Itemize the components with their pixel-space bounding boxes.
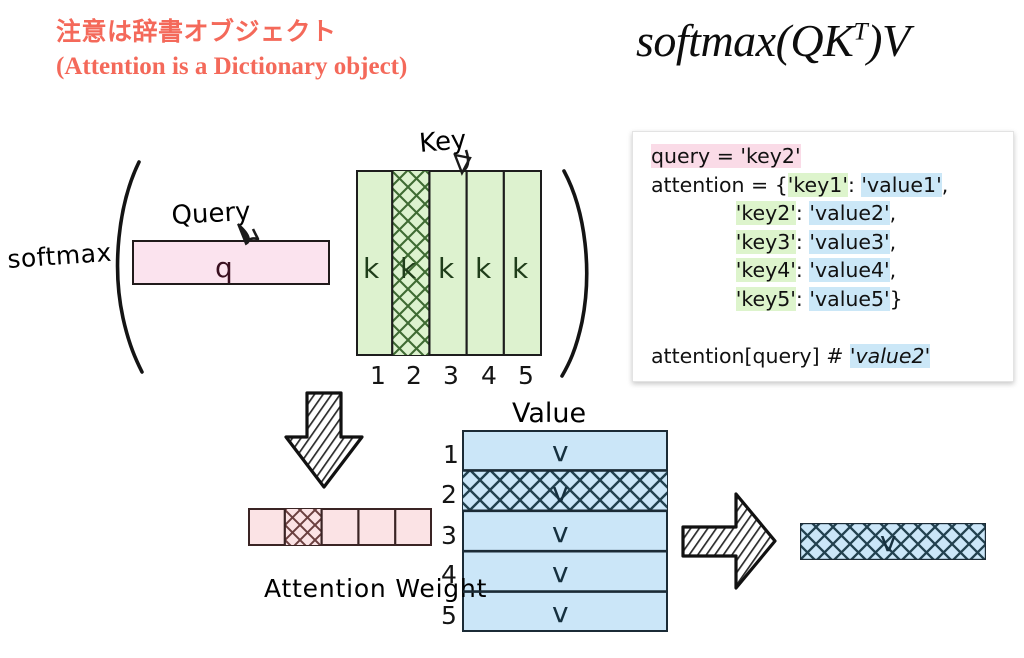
value-index-2: 2 [441, 480, 457, 509]
query-cell-letter: q [215, 251, 233, 284]
key-cell-letter-5: k [512, 252, 529, 285]
key-arrow-head [455, 155, 470, 173]
right-arrow-icon [683, 494, 775, 588]
attention-cell-2-highlight [285, 509, 322, 545]
key-index-1: 1 [370, 361, 386, 390]
key-cell-letter-3: k [438, 252, 455, 285]
value-cell-letter-2: v [552, 476, 569, 509]
value-cell-letter-3: v [552, 516, 569, 549]
down-arrow-icon [286, 393, 362, 487]
value-cell-letter-5: v [552, 596, 569, 629]
key-label: Key [418, 125, 468, 159]
value-index-1: 1 [443, 440, 459, 469]
key-cell-letter-2: k [400, 252, 417, 285]
value-index-labels: 1 2 3 4 5 [441, 440, 459, 630]
value-index-4: 4 [441, 560, 457, 589]
value-cell-letters: v v v v v [552, 435, 569, 629]
open-paren-glyph [118, 162, 142, 372]
attention-weight-cells [285, 509, 395, 545]
key-index-4: 4 [481, 361, 497, 390]
handdrawn-diagram-layer: softmax Query Key k k k k k 1 2 3 4 5 q [0, 0, 1024, 658]
value-cell-letter-1: v [552, 435, 569, 468]
key-index-labels: 1 2 3 4 5 [370, 361, 534, 390]
softmax-label: softmax [6, 238, 112, 274]
value-label: Value [512, 398, 586, 429]
value-index-5: 5 [441, 601, 457, 630]
key-cell-letter-1: k [363, 252, 380, 285]
key-index-3: 3 [443, 361, 459, 390]
value-index-3: 3 [441, 521, 457, 550]
key-index-2: 2 [406, 361, 422, 390]
key-cell-letter-4: k [475, 252, 492, 285]
output-cell-letter: v [880, 525, 897, 558]
value-cell-letter-4: v [552, 556, 569, 589]
key-index-5: 5 [518, 361, 534, 390]
close-paren-glyph [562, 171, 587, 376]
